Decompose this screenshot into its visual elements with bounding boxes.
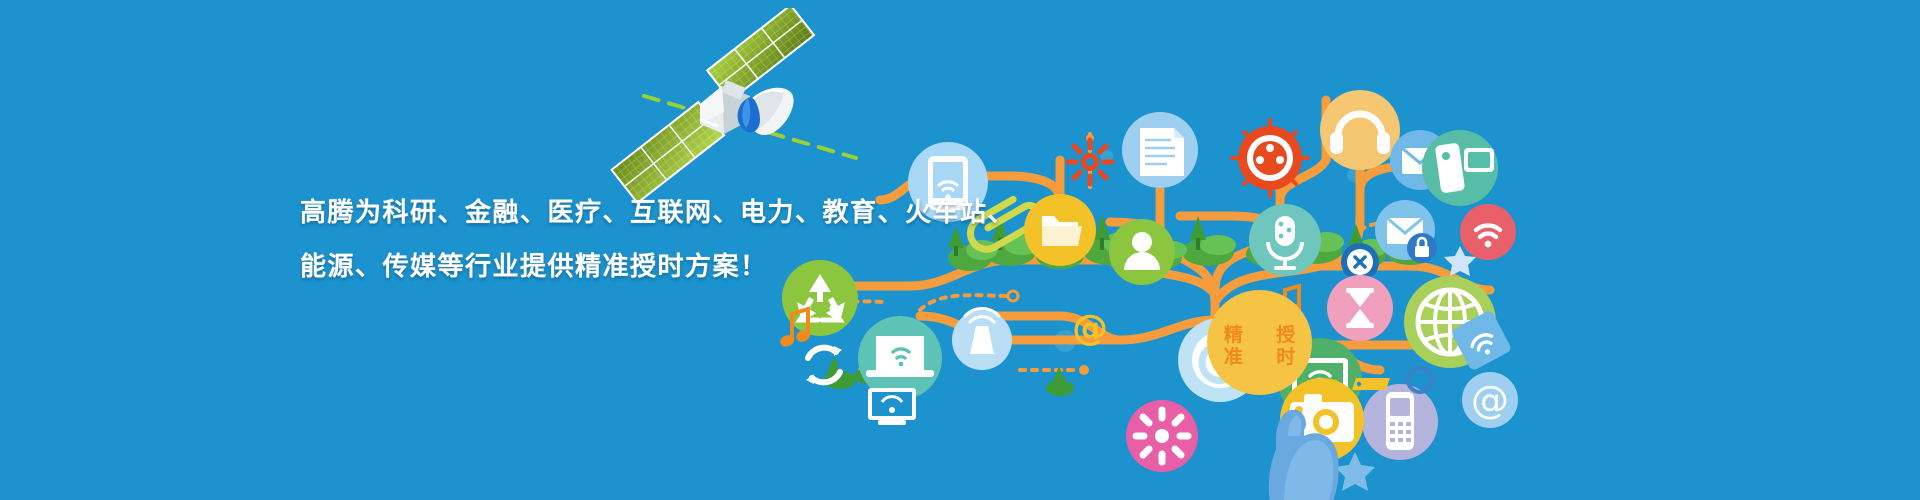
document-icon [1122, 112, 1198, 188]
music-note-icon [779, 309, 812, 349]
user-icon [1109, 219, 1175, 285]
gear-icon [1068, 140, 1112, 184]
cog-badge-icon [1232, 120, 1308, 196]
phone-tablet-icon [1422, 130, 1498, 206]
headline-line-1: 高腾为科研、金融、医疗、互联网、电力、教育、火车站、 [300, 186, 920, 240]
at-sign-icon: @ [1072, 308, 1108, 349]
microphone-icon [1249, 204, 1321, 276]
svg-text:@: @ [1072, 308, 1108, 349]
headline: 高腾为科研、金融、医疗、互联网、电力、教育、火车站、 能源、传媒等行业提供精准授… [300, 186, 920, 294]
folder-icon [1024, 194, 1096, 266]
lock-icon [1407, 233, 1437, 263]
headline-line-2: 能源、传媒等行业提供精准授时方案！ [300, 240, 920, 294]
svg-text:@: @ [1471, 378, 1509, 422]
laptop-wifi-icon [858, 316, 942, 400]
satellite-illustration [600, 8, 860, 208]
mobile-phone-icon [1362, 384, 1438, 460]
at-sign-icon: @ [1462, 372, 1518, 428]
headphones-icon [1320, 90, 1400, 170]
wifi-icon [1460, 204, 1516, 260]
pointing-hand [1232, 318, 1352, 500]
tag-icon [1352, 378, 1390, 390]
promo-banner: 高腾为科研、金融、医疗、互联网、电力、教育、火车站、 能源、传媒等行业提供精准授… [0, 0, 1920, 500]
circle-outline-icon [1408, 368, 1432, 392]
flower-icon [1126, 400, 1198, 472]
tv-icon [868, 388, 916, 425]
